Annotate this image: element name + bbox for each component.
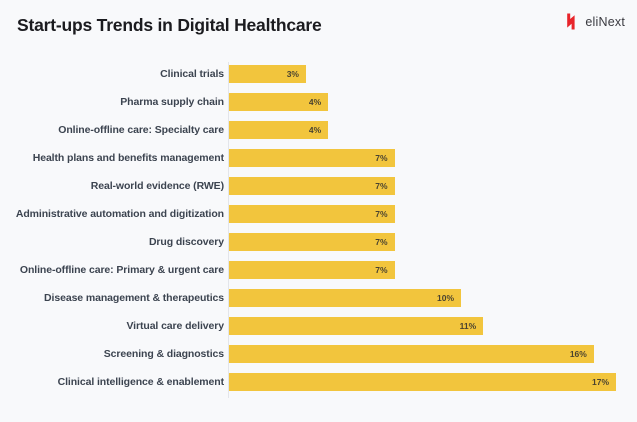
bar[interactable]: 7%: [229, 149, 395, 167]
bar-row: Clinical trials3%: [0, 60, 637, 88]
bar[interactable]: 17%: [229, 373, 616, 391]
bar-category-label: Online-offline care: Primary & urgent ca…: [0, 264, 224, 276]
bar-track: 4%: [229, 93, 328, 111]
bar-row: Pharma supply chain4%: [0, 88, 637, 116]
bar-track: 11%: [229, 317, 483, 335]
brand-name: eliNext: [585, 15, 625, 29]
chart-page: Start-ups Trends in Digital Healthcare e…: [0, 0, 637, 422]
bar-value-label: 7%: [375, 205, 387, 223]
bar[interactable]: 4%: [229, 121, 328, 139]
bar-row: Screening & diagnostics16%: [0, 340, 637, 368]
bar-row: Virtual care delivery11%: [0, 312, 637, 340]
bar-category-label: Virtual care delivery: [0, 320, 224, 332]
bar-value-label: 10%: [437, 289, 454, 307]
bar-value-label: 16%: [570, 345, 587, 363]
bar[interactable]: 16%: [229, 345, 594, 363]
bar-track: 4%: [229, 121, 328, 139]
bar-value-label: 7%: [375, 261, 387, 279]
bar-row: Health plans and benefits management7%: [0, 144, 637, 172]
bar[interactable]: 11%: [229, 317, 483, 335]
bar-track: 17%: [229, 373, 616, 391]
bar[interactable]: 7%: [229, 205, 395, 223]
bar-value-label: 7%: [375, 233, 387, 251]
bar-value-label: 3%: [287, 65, 299, 83]
bar-value-label: 7%: [375, 149, 387, 167]
bar-category-label: Clinical intelligence & enablement: [0, 376, 224, 388]
bar-value-label: 17%: [592, 373, 609, 391]
bar-value-label: 4%: [309, 121, 321, 139]
bar-row: Online-offline care: Primary & urgent ca…: [0, 256, 637, 284]
chart-header: Start-ups Trends in Digital Healthcare e…: [0, 0, 637, 52]
bar-value-label: 11%: [460, 317, 477, 335]
bar[interactable]: 7%: [229, 177, 395, 195]
bar-category-label: Administrative automation and digitizati…: [0, 208, 224, 220]
bar-category-label: Disease management & therapeutics: [0, 292, 224, 304]
chart-plot-area: Clinical trials3%Pharma supply chain4%On…: [0, 60, 637, 408]
bar-track: 16%: [229, 345, 594, 363]
bar-category-label: Online-offline care: Specialty care: [0, 124, 224, 136]
bar-value-label: 4%: [309, 93, 321, 111]
bar-category-label: Drug discovery: [0, 236, 224, 248]
bar-value-label: 7%: [375, 177, 387, 195]
bar[interactable]: 7%: [229, 233, 395, 251]
bar[interactable]: 3%: [229, 65, 306, 83]
bar-track: 7%: [229, 149, 395, 167]
page-title: Start-ups Trends in Digital Healthcare: [17, 15, 322, 36]
bar[interactable]: 4%: [229, 93, 328, 111]
bar-row: Drug discovery7%: [0, 228, 637, 256]
bar-track: 7%: [229, 261, 395, 279]
bar-track: 7%: [229, 177, 395, 195]
bar-track: 7%: [229, 233, 395, 251]
bar-row: Online-offline care: Specialty care4%: [0, 116, 637, 144]
elinext-n-logo-icon: [566, 13, 579, 30]
bar[interactable]: 7%: [229, 261, 395, 279]
bar-category-label: Real-world evidence (RWE): [0, 180, 224, 192]
bar[interactable]: 10%: [229, 289, 461, 307]
brand-logo: eliNext: [566, 13, 625, 30]
bar-track: 7%: [229, 205, 395, 223]
bar-category-label: Screening & diagnostics: [0, 348, 224, 360]
bar-row: Clinical intelligence & enablement17%: [0, 368, 637, 396]
bar-row: Disease management & therapeutics10%: [0, 284, 637, 312]
bar-track: 10%: [229, 289, 461, 307]
bar-category-label: Health plans and benefits management: [0, 152, 224, 164]
bar-row: Real-world evidence (RWE)7%: [0, 172, 637, 200]
bar-category-label: Pharma supply chain: [0, 96, 224, 108]
bar-category-label: Clinical trials: [0, 68, 224, 80]
bar-row: Administrative automation and digitizati…: [0, 200, 637, 228]
bar-track: 3%: [229, 65, 306, 83]
